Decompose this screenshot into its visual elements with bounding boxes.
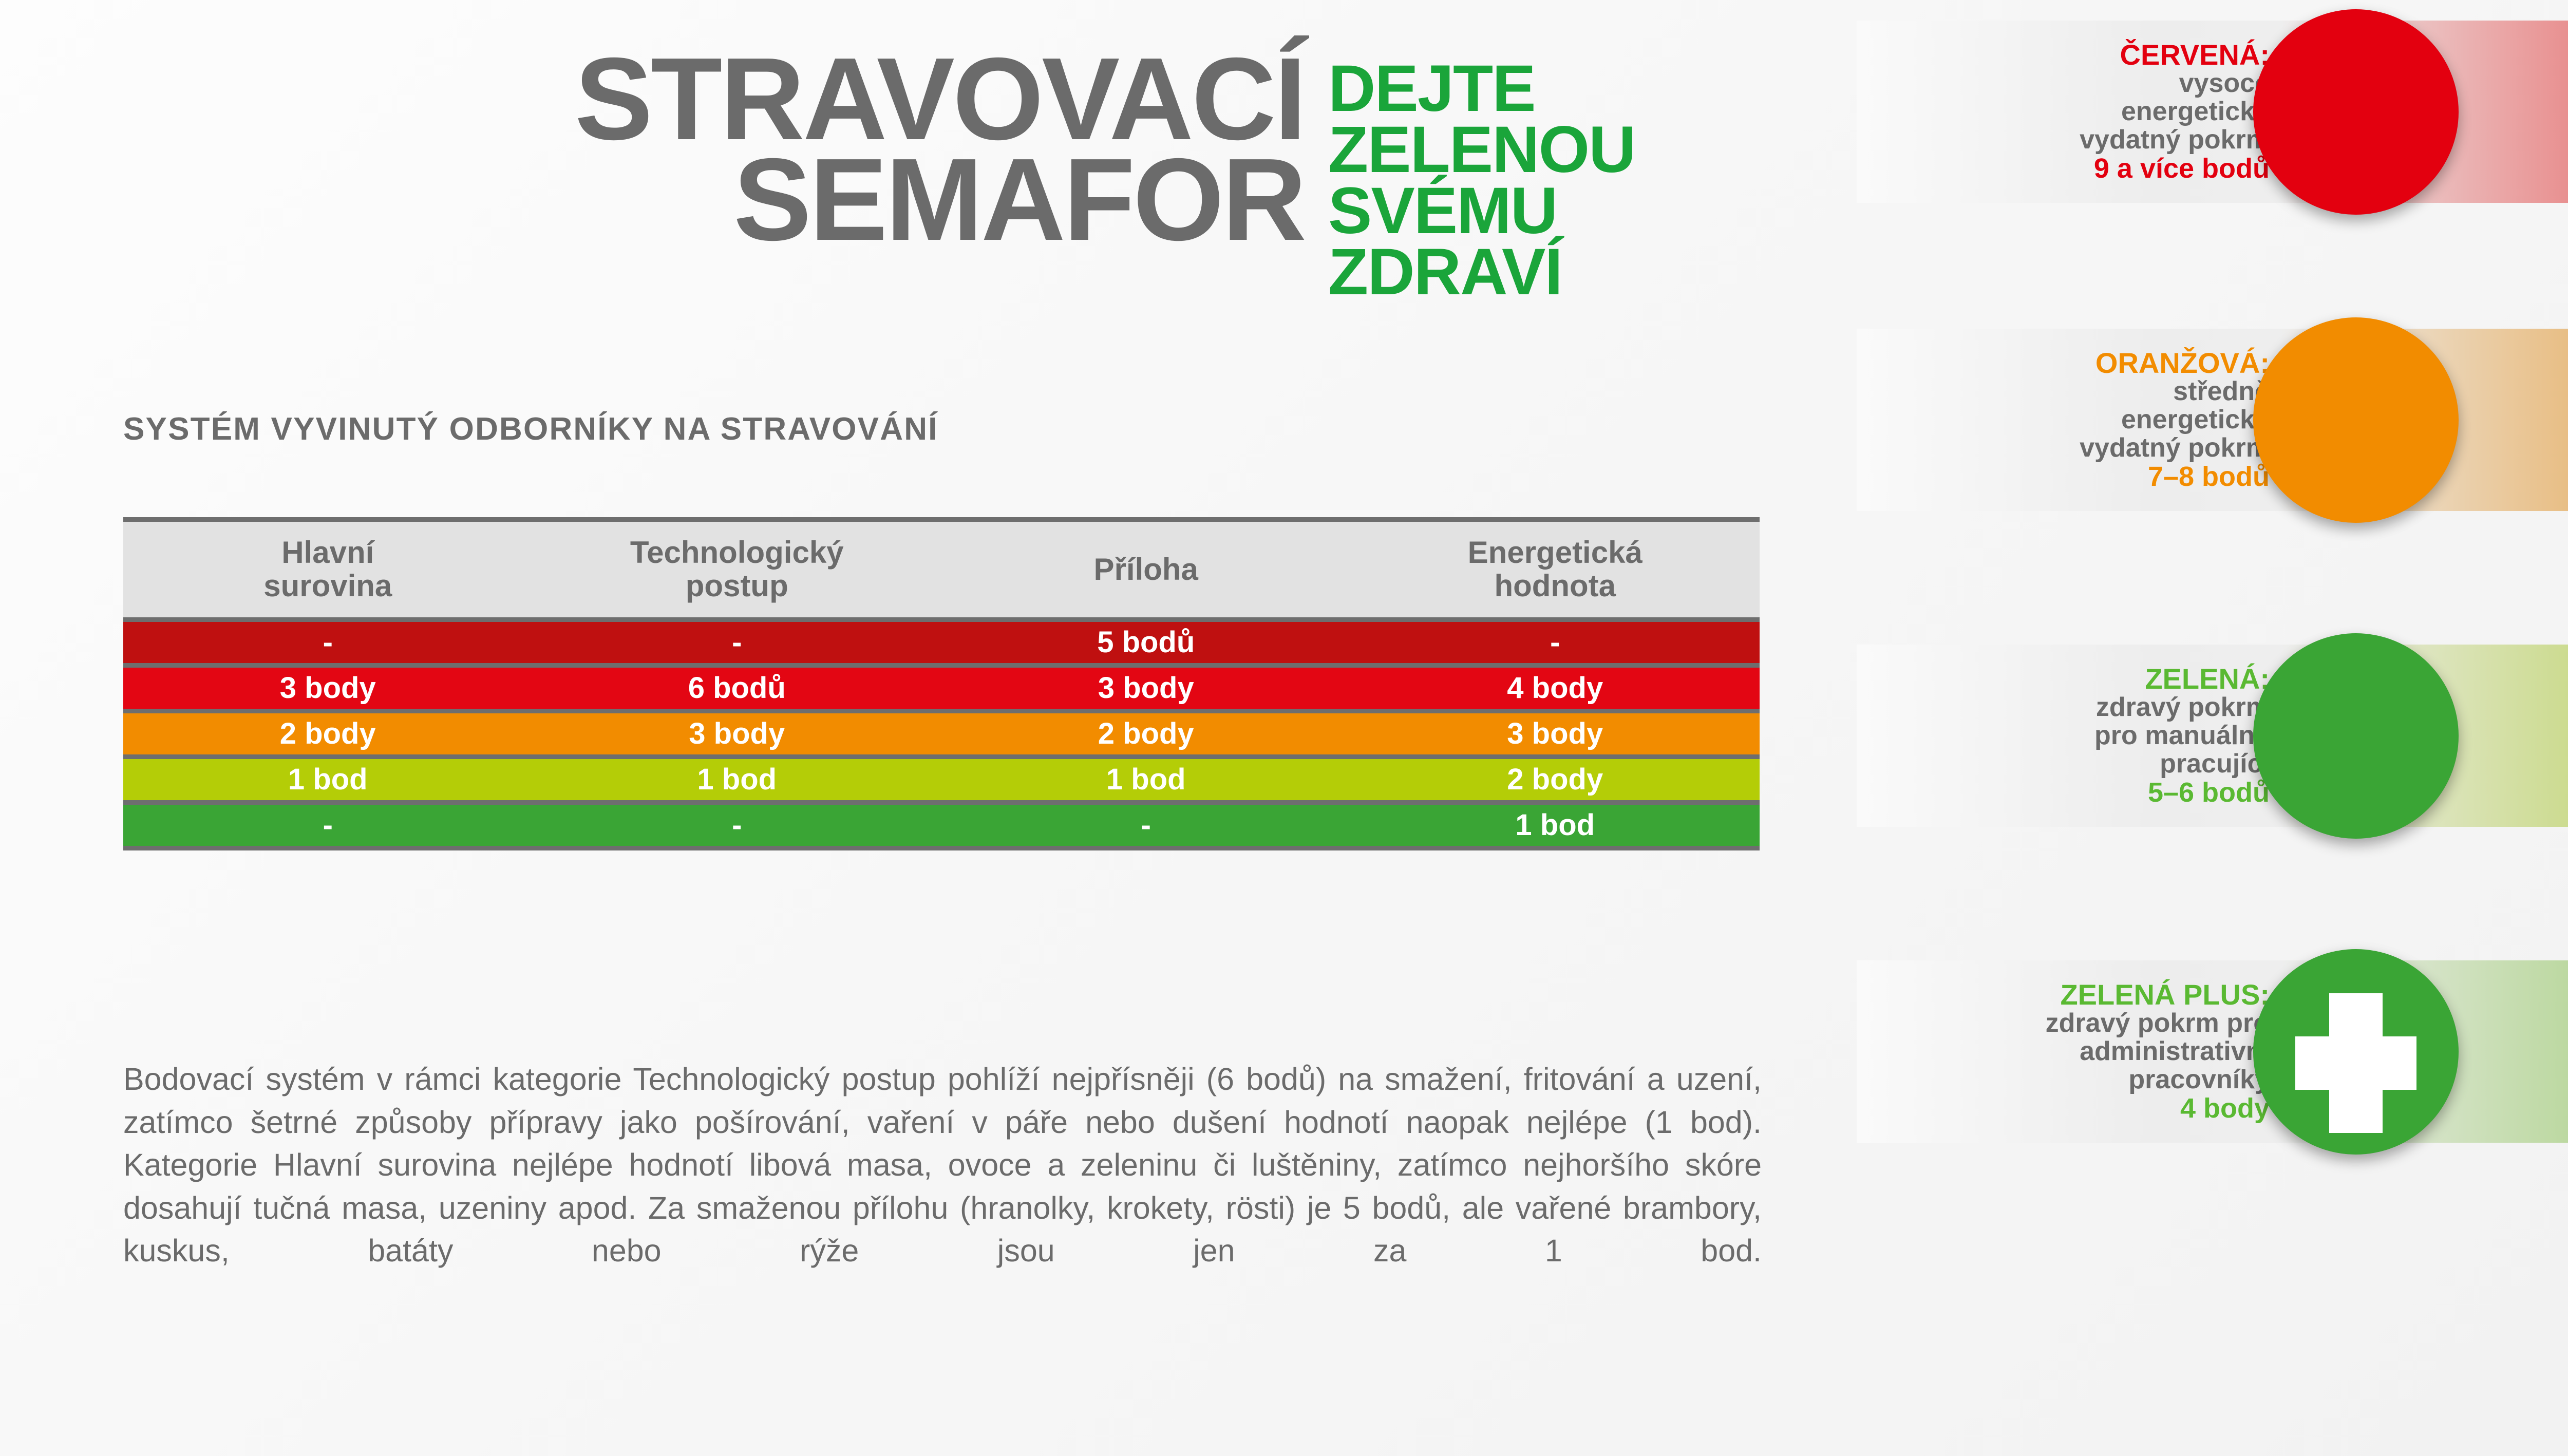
table-row: 3 body 6 bodů 3 body 4 body	[123, 663, 1760, 709]
cell-r3-c1: 1 bod	[533, 759, 942, 800]
cell-r0-c0: -	[123, 622, 533, 663]
cell-r4-c3: 1 bod	[1351, 805, 1760, 846]
scoring-table: Hlavní surovina Technologický postup Pří…	[123, 517, 1760, 850]
cell-r2-c1: 3 body	[533, 713, 942, 754]
card-title-oranzova: ORANŽOVÁ:	[2095, 348, 2270, 377]
cell-r1-c1: 6 bodů	[533, 668, 942, 709]
explanatory-text: Bodovací systém v rámci kategorie Techno…	[123, 1058, 1762, 1273]
cell-r3-c2: 1 bod	[941, 759, 1351, 800]
traffic-light-circle-green-plus	[2253, 949, 2459, 1155]
page-subtitle: SYSTÉM VYVINUTÝ ODBORNÍKY NA STRAVOVÁNÍ	[123, 411, 938, 447]
cell-r4-c1: -	[533, 805, 942, 846]
legend-column: ČERVENÁ: vysoce energeticky vydatný pokr…	[1828, 0, 2568, 1456]
explanatory-paragraph: Bodovací systém v rámci kategorie Techno…	[123, 1058, 1762, 1273]
cell-r0-c2: 5 bodů	[941, 622, 1351, 663]
slogan-line-1: DEJTE	[1328, 58, 1635, 119]
card-points-oranzova: 7–8 bodů	[2148, 462, 2270, 491]
card-description-zelena: zdravý pokrm pro manuálně pracující	[2094, 693, 2270, 778]
cell-r0-c3: -	[1351, 622, 1760, 663]
card-points-cervena: 9 a více bodů	[2094, 154, 2270, 183]
traffic-light-circle-red	[2253, 9, 2459, 215]
cell-r2-c3: 3 body	[1351, 713, 1760, 754]
card-title-cervena: ČERVENÁ:	[2120, 40, 2270, 69]
column-header-energeticka-hodnota: Energetická hodnota	[1351, 522, 1760, 617]
slogan-line-3: SVÉMU	[1328, 180, 1635, 241]
card-description-oranzova: středně energeticky vydatný pokrm	[2080, 377, 2270, 462]
table-row: 2 body 3 body 2 body 3 body	[123, 709, 1760, 754]
traffic-light-circle-green	[2253, 633, 2459, 839]
cell-r2-c0: 2 body	[123, 713, 533, 754]
traffic-light-circle-orange	[2253, 317, 2459, 523]
left-column: STRAVOVACÍ SEMAFOR DEJTE ZELENOU SVÉMU Z…	[0, 0, 1828, 1456]
card-title-zelena-plus: ZELENÁ PLUS:	[2060, 980, 2270, 1009]
cell-r4-c2: -	[941, 805, 1351, 846]
legend-card-zelena: ZELENÁ: zdravý pokrm pro manuálně pracuj…	[1857, 645, 2568, 827]
table-row: - - 5 bodů -	[123, 617, 1760, 663]
cell-r1-c3: 4 body	[1351, 668, 1760, 709]
card-points-zelena: 5–6 bodů	[2148, 778, 2270, 807]
cell-r1-c2: 3 body	[941, 668, 1351, 709]
cell-r3-c0: 1 bod	[123, 759, 533, 800]
column-header-hlavni-surovina: Hlavní surovina	[123, 522, 533, 617]
title-block: STRAVOVACÍ SEMAFOR DEJTE ZELENOU SVÉMU Z…	[123, 49, 1767, 302]
card-text-block: ORANŽOVÁ: středně energeticky vydatný po…	[1857, 329, 2283, 511]
legend-card-oranzova: ORANŽOVÁ: středně energeticky vydatný po…	[1857, 329, 2568, 511]
column-header-priloha: Příloha	[941, 522, 1351, 617]
slogan: DEJTE ZELENOU SVÉMU ZDRAVÍ	[1328, 58, 1635, 302]
column-header-technologicky-postup: Technologický postup	[533, 522, 942, 617]
card-points-zelena-plus: 4 body	[2180, 1094, 2270, 1123]
infographic-page: STRAVOVACÍ SEMAFOR DEJTE ZELENOU SVÉMU Z…	[0, 0, 2568, 1456]
cell-r3-c3: 2 body	[1351, 759, 1760, 800]
cell-r0-c1: -	[533, 622, 942, 663]
slogan-line-2: ZELENOU	[1328, 119, 1635, 180]
legend-card-cervena: ČERVENÁ: vysoce energeticky vydatný pokr…	[1857, 21, 2568, 203]
legend-card-zelena-plus: ZELENÁ PLUS: zdravý pokrm pro administra…	[1857, 960, 2568, 1143]
card-description-cervena: vysoce energeticky vydatný pokrm	[2080, 69, 2270, 154]
table-row: - - - 1 bod	[123, 800, 1760, 846]
table-row: 1 bod 1 bod 1 bod 2 body	[123, 754, 1760, 800]
title-line-2: SEMAFOR	[123, 149, 1305, 250]
card-title-zelena: ZELENÁ:	[2145, 664, 2270, 693]
card-text-block: ZELENÁ: zdravý pokrm pro manuálně pracuj…	[1857, 645, 2283, 827]
cell-r1-c0: 3 body	[123, 668, 533, 709]
table-header-row: Hlavní surovina Technologický postup Pří…	[123, 522, 1760, 617]
card-text-block: ZELENÁ PLUS: zdravý pokrm pro administra…	[1857, 960, 2283, 1143]
cell-r2-c2: 2 body	[941, 713, 1351, 754]
card-description-zelena-plus: zdravý pokrm pro administrativní pracovn…	[2046, 1009, 2270, 1094]
slogan-line-4: ZDRAVÍ	[1328, 241, 1635, 302]
page-title: STRAVOVACÍ SEMAFOR	[123, 49, 1305, 250]
plus-icon-vertical-bar	[2329, 993, 2383, 1133]
card-text-block: ČERVENÁ: vysoce energeticky vydatný pokr…	[1857, 21, 2283, 203]
cell-r4-c0: -	[123, 805, 533, 846]
